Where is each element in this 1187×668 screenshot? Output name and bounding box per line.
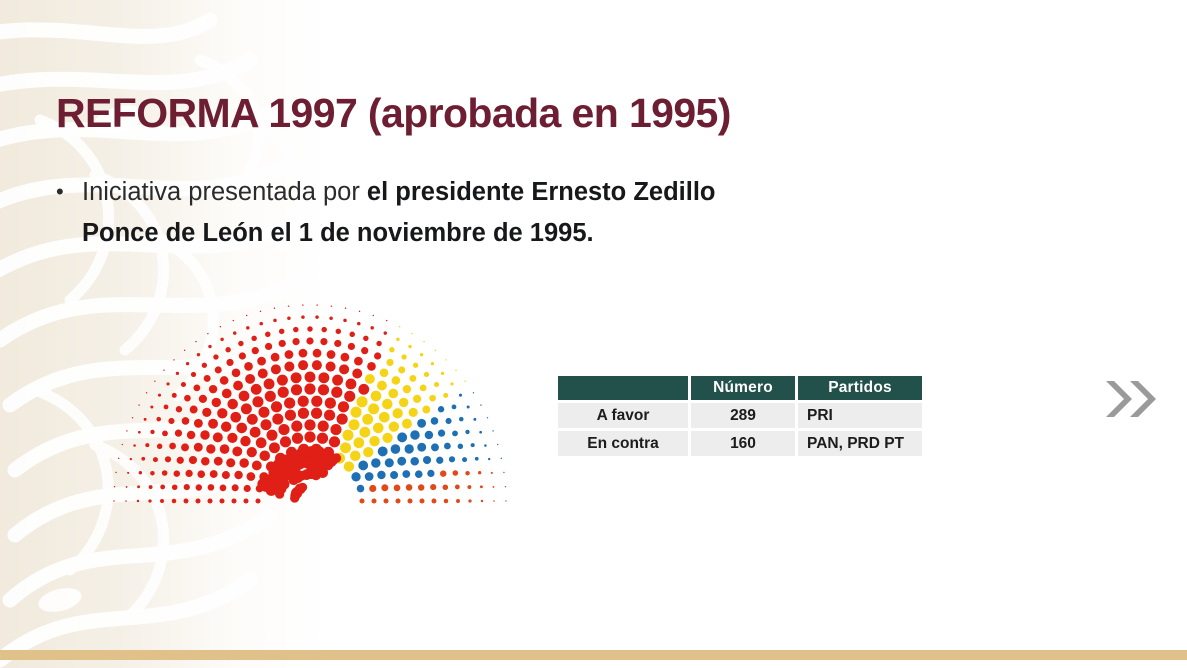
- hemicycle-seat-dot: [452, 405, 457, 410]
- hemicycle-seat-dot: [475, 457, 479, 461]
- hemicycle-seat-dot: [468, 499, 471, 502]
- hemicycle-seat-dot: [403, 385, 411, 393]
- hemicycle-seat-dot: [318, 372, 329, 383]
- hemicycle-seat-dot: [417, 443, 426, 452]
- hemicycle-seat-dot: [459, 394, 462, 397]
- bullet-marker: •: [52, 172, 82, 212]
- hemicycle-seat-dot: [431, 443, 439, 451]
- hemicycle-seat-dot: [233, 381, 243, 391]
- hemicycle-seat-dot: [238, 341, 243, 346]
- hemicycle-seat-dot: [287, 316, 291, 320]
- hemicycle-seat-dot: [168, 418, 174, 424]
- hemicycle-seat-dot: [445, 359, 446, 360]
- hemicycle-seat-dot: [187, 431, 195, 439]
- hemicycle-seat-dot: [382, 433, 392, 443]
- hemicycle-seat-dot: [292, 433, 303, 444]
- cell-vote-label-a-favor: A favor: [558, 403, 688, 428]
- hemicycle-seat-dot: [383, 498, 388, 503]
- hemicycle-seat-dot: [146, 392, 147, 393]
- hemicycle-seat-dot: [479, 431, 482, 434]
- hemicycle-seat-dot: [185, 470, 192, 477]
- hemicycle-seat-dot: [311, 408, 322, 419]
- hemicycle-seat-dot: [449, 456, 455, 462]
- hemicycle-seat-dot: [202, 408, 211, 417]
- hemicycle-seat-dot: [503, 472, 504, 473]
- hemicycle-seat-dot: [352, 368, 362, 378]
- hemicycle-seat-dot: [501, 458, 502, 459]
- hemicycle-seat-dot: [207, 333, 208, 334]
- hemicycle-seat-dot: [302, 304, 303, 305]
- hemicycle-seat-dot: [304, 431, 315, 442]
- hemicycle-seat-dot: [409, 408, 418, 417]
- hemicycle-seat-dot: [311, 470, 321, 480]
- hemicycle-seat-dot: [133, 444, 136, 447]
- hemicycle-seat-dot: [436, 457, 443, 464]
- hemicycle-seat-dot: [278, 387, 289, 398]
- hemicycle-seat-dot: [258, 407, 269, 418]
- cell-vote-parties-en-contra: PAN, PRD PT: [798, 431, 922, 456]
- hemicycle-seat-dot: [279, 340, 286, 347]
- hemicycle-seat-dot: [324, 410, 335, 421]
- hemicycle-seat-dot: [317, 433, 328, 444]
- hemicycle-seat-dot: [239, 352, 246, 359]
- hemicycle-seat-dot: [266, 430, 277, 441]
- hemicycle-seat-dot: [411, 333, 412, 334]
- hemicycle-seat-dot: [138, 431, 141, 434]
- hemicycle-seat-dot: [233, 320, 234, 321]
- hemicycle-seat-dot: [386, 359, 393, 366]
- hemicycle-seat-dot: [397, 457, 406, 466]
- hemicycle-seat-dot: [326, 457, 336, 467]
- hemicycle-seat-dot: [321, 327, 326, 332]
- hemicycle-seat-dot: [480, 404, 481, 405]
- hemicycle-seat-dot: [184, 395, 191, 402]
- hemicycle-seat-dot: [113, 500, 114, 501]
- slide-canvas: REFORMA 1997 (aprobada en 1995) • Inicia…: [0, 0, 1187, 668]
- hemicycle-seat-dot: [311, 396, 322, 407]
- hemicycle-seat-dot: [473, 418, 476, 421]
- hemicycle-seat-dot: [359, 498, 364, 503]
- hemicycle-seat-dot: [234, 471, 242, 479]
- hemicycle-seat-dot: [289, 464, 300, 475]
- hemicycle-seat-dot: [265, 343, 272, 350]
- bottom-accent-rule: [0, 650, 1187, 660]
- bullet-paragraph: • Iniciativa presentada por el president…: [52, 172, 792, 254]
- hemicycle-seat-dot: [427, 470, 434, 477]
- hemicycle-seat-dot: [459, 417, 464, 422]
- hemicycle-seat-dot: [258, 368, 268, 378]
- hemicycle-seat-dot: [240, 436, 250, 446]
- hemicycle-seat-dot: [406, 484, 413, 491]
- hemicycle-seat-dot: [272, 414, 283, 425]
- hemicycle-seat-dot: [351, 472, 360, 481]
- hemicycle-seat-dot: [255, 498, 260, 503]
- hemicycle-seat-dot: [423, 456, 431, 464]
- hemicycle-seat-dot: [126, 430, 127, 431]
- hemicycle-seat-dot: [246, 326, 249, 329]
- hemicycle-seat-dot: [338, 401, 349, 412]
- hemicycle-seat-dot: [172, 484, 178, 490]
- hemicycle-seat-dot: [252, 396, 263, 407]
- hemicycle-seat-dot: [315, 460, 325, 470]
- hemicycle-seat-dot: [176, 406, 182, 412]
- hemicycle-seat-dot: [359, 427, 370, 438]
- hemicycle-seat-dot: [432, 499, 437, 504]
- hemicycle-seat-dot: [122, 444, 123, 445]
- hemicycle-seat-dot: [365, 374, 375, 384]
- hemicycle-seat-dot: [376, 341, 381, 346]
- hemicycle-seat-dot: [422, 406, 430, 414]
- hemicycle-seat-dot: [318, 384, 329, 395]
- hemicycle-seat-dot: [379, 412, 390, 423]
- hemicycle-seat-dot: [385, 458, 394, 467]
- hemicycle-seat-dot: [405, 444, 414, 453]
- hemicycle-seat-dot: [285, 350, 294, 359]
- hemicycle-seat-dot: [158, 394, 161, 397]
- hemicycle-seat-dot: [370, 326, 373, 329]
- hemicycle-seat-dot: [220, 444, 230, 454]
- hemicycle-seat-dot: [225, 347, 230, 352]
- page-title: REFORMA 1997 (aprobada en 1995): [56, 90, 731, 137]
- hemicycle-seat-dot: [420, 384, 427, 391]
- hemicycle-seat-dot: [318, 421, 329, 432]
- hemicycle-seat-dot: [271, 401, 282, 412]
- hemicycle-seat-dot: [208, 345, 211, 348]
- hemicycle-seat-dot: [184, 499, 189, 504]
- hemicycle-seat-dot: [204, 375, 211, 382]
- hemicycle-seat-dot: [481, 500, 483, 502]
- hemicycle-seat-dot: [409, 375, 416, 382]
- bullet-text: Iniciativa presentada por el presidente …: [82, 172, 792, 254]
- hemicycle-seat-dot: [239, 391, 250, 402]
- hemicycle-seat-dot: [190, 406, 198, 414]
- hemicycle-seat-dot: [243, 498, 248, 503]
- hemicycle-seat-dot: [455, 485, 460, 490]
- hemicycle-seat-dot: [200, 430, 209, 439]
- hemicycle-seat-dot: [331, 305, 332, 306]
- table-row: A favor 289 PRI: [558, 403, 922, 428]
- hemicycle-seat-dot: [149, 485, 153, 489]
- hemicycle-seat-dot: [208, 419, 218, 429]
- hemicycle-seat-dot: [429, 395, 436, 402]
- hemicycle-seat-dot: [220, 326, 221, 327]
- hemicycle-seat-dot: [388, 389, 398, 399]
- hemicycle-seat-dot: [165, 456, 171, 462]
- hemicycle-seat-dot: [265, 391, 276, 402]
- hemicycle-seat-dot: [389, 422, 399, 432]
- hemicycle-seat-dot: [186, 362, 189, 365]
- hemicycle-seat-dot: [399, 398, 408, 407]
- hemicycle-seat-dot: [230, 412, 241, 423]
- hemicycle-seat-dot: [443, 484, 449, 490]
- hemicycle-seat-dot: [298, 408, 309, 419]
- hemicycle-seat-dot: [144, 418, 147, 421]
- hemicycle-seat-dot: [259, 450, 270, 461]
- hemicycle-seat-dot: [181, 443, 189, 451]
- hemicycle-seat-dot: [357, 322, 361, 326]
- hemicycle-chart: [98, 296, 528, 511]
- hemicycle-seat-dot: [252, 461, 262, 471]
- vote-results-table: Número Partidos A favor 289 PRI En contr…: [555, 373, 925, 459]
- hemicycle-seat-dot: [184, 350, 185, 351]
- hemicycle-seat-dot: [373, 315, 374, 316]
- hemicycle-seat-dot: [458, 444, 463, 449]
- hemicycle-seat-dot: [382, 399, 393, 410]
- hemicycle-seat-dot: [410, 457, 419, 466]
- hemicycle-seat-dot: [252, 347, 259, 354]
- hemicycle-seat-dot: [259, 322, 263, 326]
- hemicycle-seat-dot: [342, 430, 353, 441]
- hemicycle-seat-dot: [348, 343, 355, 350]
- hemicycle-seat-dot: [488, 458, 490, 460]
- hemicycle-seat-dot: [150, 430, 154, 434]
- hemicycle-seat-dot: [395, 498, 400, 503]
- hemicycle-seat-dot: [277, 375, 288, 386]
- hemicycle-seat-dot: [137, 500, 139, 502]
- hemicycle-seat-dot: [373, 423, 384, 434]
- hemicycle-seat-dot: [156, 417, 161, 422]
- hemicycle-seat-dot: [358, 384, 369, 395]
- hemicycle-seat-dot: [343, 319, 347, 323]
- hemicycle-seat-dot: [194, 419, 203, 428]
- hemicycle-seat-dot: [315, 315, 319, 319]
- hemicycle-seat-dot: [278, 478, 289, 489]
- hemicycle-seat-dot: [402, 419, 412, 429]
- hemicycle-seat-dot: [452, 430, 458, 436]
- hemicycle-seat-dot: [118, 458, 119, 459]
- hemicycle-seat-dot: [279, 329, 284, 334]
- hemicycle-seat-dot: [206, 444, 215, 453]
- hemicycle-seat-dot: [157, 444, 162, 449]
- hemicycle-seat-dot: [345, 308, 346, 309]
- column-header-partidos: Partidos: [798, 376, 922, 400]
- hemicycle-seat-dot: [480, 485, 483, 488]
- hemicycle-seat-dot: [418, 484, 424, 490]
- hemicycle-seat-dot: [202, 363, 207, 368]
- hemicycle-seat-dot: [396, 338, 399, 341]
- hemicycle-seat-dot: [292, 338, 299, 345]
- hemicycle-seat-dot: [257, 357, 266, 366]
- hemicycle-seat-dot: [305, 372, 316, 383]
- hemicycle-seat-dot: [357, 396, 368, 407]
- hemicycle-seat-dot: [126, 486, 128, 488]
- hemicycle-seat-dot: [244, 362, 253, 371]
- hemicycle-seat-dot: [380, 369, 389, 378]
- hemicycle-seat-dot: [232, 369, 241, 378]
- double-chevron-right-icon[interactable]: [1104, 375, 1160, 423]
- hemicycle-seat-dot: [393, 408, 403, 418]
- hemicycle-seat-dot: [359, 311, 360, 312]
- hemicycle-seat-dot: [285, 410, 296, 421]
- hemicycle-seat-dot: [288, 305, 289, 306]
- hemicycle-seat-dot: [431, 362, 434, 365]
- hemicycle-seat-dot: [215, 366, 222, 373]
- hemicycle-seat-dot: [182, 417, 190, 425]
- hemicycle-seat-dot: [150, 471, 155, 476]
- hemicycle-seat-dot: [154, 381, 155, 382]
- table-row: En contra 160 PAN, PRD PT: [558, 431, 922, 456]
- hemicycle-seat-dot: [232, 484, 239, 491]
- hemicycle-seat-dot: [346, 379, 357, 390]
- hemicycle-seat-dot: [377, 471, 385, 479]
- hemicycle-seat-dot: [257, 478, 268, 489]
- hemicycle-seat-dot: [371, 498, 376, 503]
- hemicycle-seat-dot: [325, 397, 336, 408]
- hemicycle-seat-dot: [199, 395, 207, 403]
- hemicycle-seat-dot: [138, 404, 139, 405]
- hemicycle-seat-dot: [464, 381, 465, 382]
- hemicycle-seat-dot: [233, 331, 236, 334]
- column-header-blank: [558, 376, 688, 400]
- hemicycle-seat-dot: [453, 470, 459, 476]
- hemicycle-seat-dot: [444, 443, 451, 450]
- hemicycle-seat-dot: [291, 421, 302, 432]
- hemicycle-seat-dot: [232, 446, 242, 456]
- hemicycle-seat-dot: [398, 366, 405, 373]
- hemicycle-seat-dot: [271, 353, 280, 362]
- hemicycle-seat-dot: [153, 457, 158, 462]
- hemicycle-seat-dot: [226, 359, 233, 366]
- hemicycle-seat-dot: [330, 424, 341, 435]
- hemicycle-seat-dot: [141, 457, 145, 461]
- hemicycle-seat-dot: [264, 379, 275, 390]
- hemicycle-seat-dot: [391, 444, 401, 454]
- hemicycle-seat-dot: [251, 336, 256, 341]
- hemicycle-seat-dot: [130, 458, 132, 460]
- hemicycle-seat-dot: [191, 372, 196, 377]
- hemicycle-seat-dot: [169, 443, 176, 450]
- hemicycle-seat-dot: [389, 347, 394, 352]
- hemicycle-seat-dot: [219, 498, 224, 503]
- table-header-row: Número Partidos: [558, 376, 922, 400]
- hemicycle-seat-dot: [247, 447, 257, 457]
- hemicycle-seat-dot: [491, 472, 493, 474]
- hemicycle-seat-dot: [271, 364, 281, 374]
- hemicycle-seat-dot: [291, 384, 302, 395]
- hemicycle-seat-dot: [467, 405, 470, 408]
- hemicycle-seat-dot: [367, 362, 376, 371]
- hemicycle-seat-dot: [316, 304, 317, 305]
- hemicycle-seat-dot: [193, 384, 200, 391]
- hemicycle-seat-dot: [236, 423, 247, 434]
- hemicycle-seat-dot: [505, 486, 506, 487]
- hemicycle-seat-dot: [337, 414, 348, 425]
- hemicycle-seat-dot: [176, 372, 179, 375]
- hemicycle-seat-dot: [312, 360, 322, 370]
- hemicycle-seat-dot: [115, 472, 116, 473]
- hemicycle-seat-dot: [213, 432, 223, 442]
- hemicycle-seat-dot: [467, 485, 471, 489]
- hemicycle-svg: [98, 296, 528, 511]
- hemicycle-seat-dot: [384, 331, 387, 334]
- hemicycle-seat-dot: [209, 385, 217, 393]
- hemicycle-seat-dot: [362, 414, 373, 425]
- hemicycle-seat-dot: [301, 315, 305, 319]
- hemicycle-seat-dot: [357, 485, 365, 493]
- cell-vote-parties-a-favor: PRI: [798, 403, 922, 428]
- hemicycle-seat-dot: [293, 327, 298, 332]
- hemicycle-seat-dot: [424, 372, 429, 377]
- hemicycle-seat-dot: [222, 471, 230, 479]
- hemicycle-seat-dot: [207, 498, 212, 503]
- hemicycle-seat-dot: [296, 455, 305, 464]
- hemicycle-seat-dot: [305, 448, 315, 458]
- hemicycle-seat-dot: [320, 338, 327, 345]
- hemicycle-seat-dot: [438, 406, 444, 412]
- hemicycle-seat-dot: [160, 499, 164, 503]
- hemicycle-seat-dot: [377, 381, 387, 391]
- hemicycle-seat-dot: [291, 372, 302, 383]
- bullet-text-regular: Iniciativa presentada por: [82, 178, 367, 206]
- hemicycle-seat-dot: [353, 437, 364, 448]
- hemicycle-seat-dot: [273, 319, 277, 323]
- hemicycle-seat-dot: [222, 389, 232, 399]
- hemicycle-seat-dot: [349, 332, 354, 337]
- hemicycle-seat-dot: [471, 443, 475, 447]
- hemicycle-seat-dot: [329, 436, 340, 447]
- hemicycle-seat-dot: [374, 352, 381, 359]
- hemicycle-seat-dot: [465, 471, 470, 476]
- hemicycle-seat-dot: [401, 354, 406, 359]
- hemicycle-seat-dot: [430, 484, 436, 490]
- hemicycle-seat-dot: [368, 403, 379, 414]
- hemicycle-seat-dot: [226, 458, 235, 467]
- hemicycle-seat-dot: [220, 338, 223, 341]
- hemicycle-seat-dot: [363, 447, 373, 457]
- hemicycle-seat-dot: [350, 407, 361, 418]
- hemicycle-seat-dot: [334, 340, 341, 347]
- hemicycle-seat-dot: [212, 398, 221, 407]
- hemicycle-seat-dot: [369, 485, 376, 492]
- hemicycle-seat-dot: [220, 376, 229, 385]
- hemicycle-seat-dot: [189, 456, 197, 464]
- hemicycle-seat-dot: [132, 417, 133, 418]
- hemicycle-seat-dot: [217, 408, 227, 418]
- hemicycle-seat-dot: [195, 341, 196, 342]
- hemicycle-seat-dot: [339, 364, 349, 374]
- hemicycle-seat-dot: [278, 424, 289, 435]
- hemicycle-seat-dot: [150, 405, 153, 408]
- hemicycle-seat-dot: [164, 405, 169, 410]
- hemicycle-seat-dot: [397, 432, 407, 442]
- hemicycle-seat-dot: [166, 382, 169, 385]
- hemicycle-seat-dot: [239, 458, 249, 468]
- hemicycle-seat-dot: [250, 427, 261, 438]
- hemicycle-seat-dot: [344, 461, 354, 471]
- hemicycle-seat-dot: [371, 391, 382, 402]
- hemicycle-seat-dot: [197, 470, 205, 478]
- hemicycle-seat-dot: [208, 484, 215, 491]
- hemicycle-seat-dot: [227, 433, 237, 443]
- hemicycle-seat-dot: [497, 444, 498, 445]
- hemicycle-seat-dot: [304, 383, 315, 394]
- hemicycle-seat-dot: [172, 499, 177, 504]
- hemicycle-seat-dot: [435, 350, 436, 351]
- hemicycle-seat-dot: [363, 336, 368, 341]
- hemicycle-seat-dot: [221, 422, 231, 432]
- hemicycle-seat-dot: [256, 437, 267, 448]
- hemicycle-seat-dot: [441, 372, 444, 375]
- hemicycle-seat-dot: [354, 357, 363, 366]
- hemicycle-seat-dot: [197, 353, 200, 356]
- hemicycle-seat-dot: [402, 470, 410, 478]
- table-body: A favor 289 PRI En contra 160 PAN, PRD P…: [558, 403, 922, 456]
- cell-vote-label-en-contra: En contra: [558, 431, 688, 456]
- hemicycle-seat-dot: [114, 486, 115, 487]
- hemicycle-seat-dot: [251, 384, 262, 395]
- hemicycle-seat-dot: [247, 472, 256, 481]
- hemicycle-seat-dot: [139, 471, 142, 474]
